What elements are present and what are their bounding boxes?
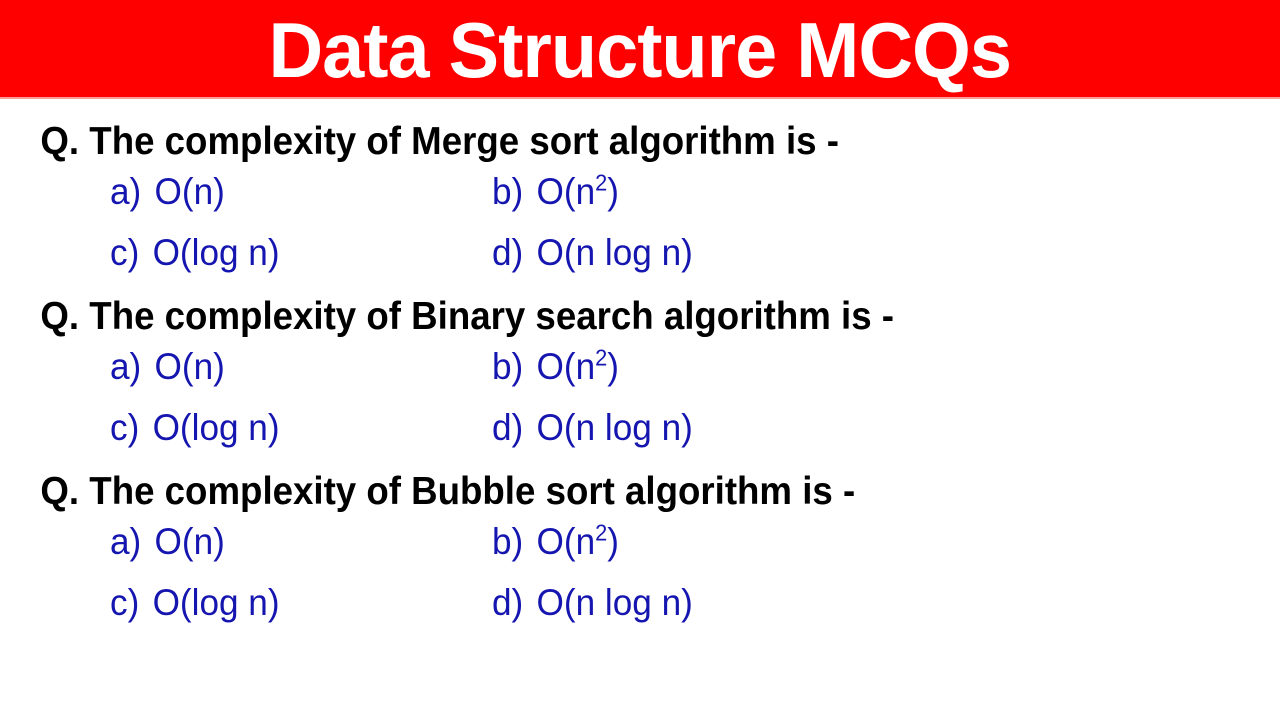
question-prompt: Q. The complexity of Bubble sort algorit… (0, 467, 1203, 516)
option-row: c)O(log n) d)O(n log n) (110, 404, 1280, 465)
option-a-label: a) (110, 343, 141, 390)
option-b-text: O(n (537, 171, 596, 212)
page-title: Data Structure MCQs (269, 11, 1012, 89)
option-b-superscript: 2 (595, 520, 607, 546)
title-banner: Data Structure MCQs (0, 0, 1280, 97)
option-b-text: O(n (537, 346, 596, 387)
option-c-label: c) (110, 404, 139, 451)
option-d[interactable]: d)O(n log n) (492, 579, 693, 626)
question-block: Q. The complexity of Binary search algor… (0, 292, 1280, 465)
option-b-text: O(n (537, 521, 596, 562)
option-d-text: O(n log n) (537, 232, 693, 273)
option-b-label: b) (492, 343, 523, 390)
option-c-text: O(log n) (153, 582, 280, 623)
option-b-superscript: 2 (595, 170, 607, 196)
question-prompt: Q. The complexity of Binary search algor… (0, 292, 1203, 341)
option-d-text: O(n log n) (537, 407, 693, 448)
option-d[interactable]: d)O(n log n) (492, 229, 693, 276)
question-block: Q. The complexity of Merge sort algorith… (0, 117, 1280, 290)
option-a[interactable]: a)O(n) (110, 518, 473, 565)
quiz-list: Q. The complexity of Merge sort algorith… (0, 99, 1280, 720)
option-b-tail: ) (607, 521, 619, 562)
option-c[interactable]: c)O(log n) (110, 229, 473, 276)
option-group: a)O(n) b)O(n2) c)O(log n) d)O(n log n) (0, 516, 1280, 640)
option-c[interactable]: c)O(log n) (110, 579, 473, 626)
option-row: a)O(n) b)O(n2) (110, 168, 1280, 229)
option-c-label: c) (110, 229, 139, 276)
option-b[interactable]: b)O(n2) (492, 168, 619, 215)
option-b-label: b) (492, 168, 523, 215)
option-a[interactable]: a)O(n) (110, 343, 473, 390)
option-row: a)O(n) b)O(n2) (110, 343, 1280, 404)
option-row: c)O(log n) d)O(n log n) (110, 229, 1280, 290)
option-group: a)O(n) b)O(n2) c)O(log n) d)O(n log n) (0, 341, 1280, 465)
option-d-text: O(n log n) (537, 582, 693, 623)
option-b-label: b) (492, 518, 523, 565)
question-block: Q. The complexity of Bubble sort algorit… (0, 467, 1280, 640)
option-b-tail: ) (607, 346, 619, 387)
option-a-label: a) (110, 168, 141, 215)
option-d[interactable]: d)O(n log n) (492, 404, 693, 451)
option-a-text: O(n) (155, 346, 225, 387)
option-row: c)O(log n) d)O(n log n) (110, 579, 1280, 640)
option-d-label: d) (492, 579, 523, 626)
option-b-superscript: 2 (595, 345, 607, 371)
option-d-label: d) (492, 229, 523, 276)
question-prompt: Q. The complexity of Merge sort algorith… (0, 117, 1203, 166)
option-a[interactable]: a)O(n) (110, 168, 473, 215)
option-a-text: O(n) (155, 521, 225, 562)
option-c[interactable]: c)O(log n) (110, 404, 473, 451)
option-group: a)O(n) b)O(n2) c)O(log n) d)O(n log n) (0, 166, 1280, 290)
option-c-label: c) (110, 579, 139, 626)
option-b[interactable]: b)O(n2) (492, 518, 619, 565)
option-b-tail: ) (607, 171, 619, 212)
option-a-label: a) (110, 518, 141, 565)
option-a-text: O(n) (155, 171, 225, 212)
option-d-label: d) (492, 404, 523, 451)
option-row: a)O(n) b)O(n2) (110, 518, 1280, 579)
option-b[interactable]: b)O(n2) (492, 343, 619, 390)
option-c-text: O(log n) (153, 232, 280, 273)
slide-page: Data Structure MCQs Q. The complexity of… (0, 0, 1280, 720)
option-c-text: O(log n) (153, 407, 280, 448)
